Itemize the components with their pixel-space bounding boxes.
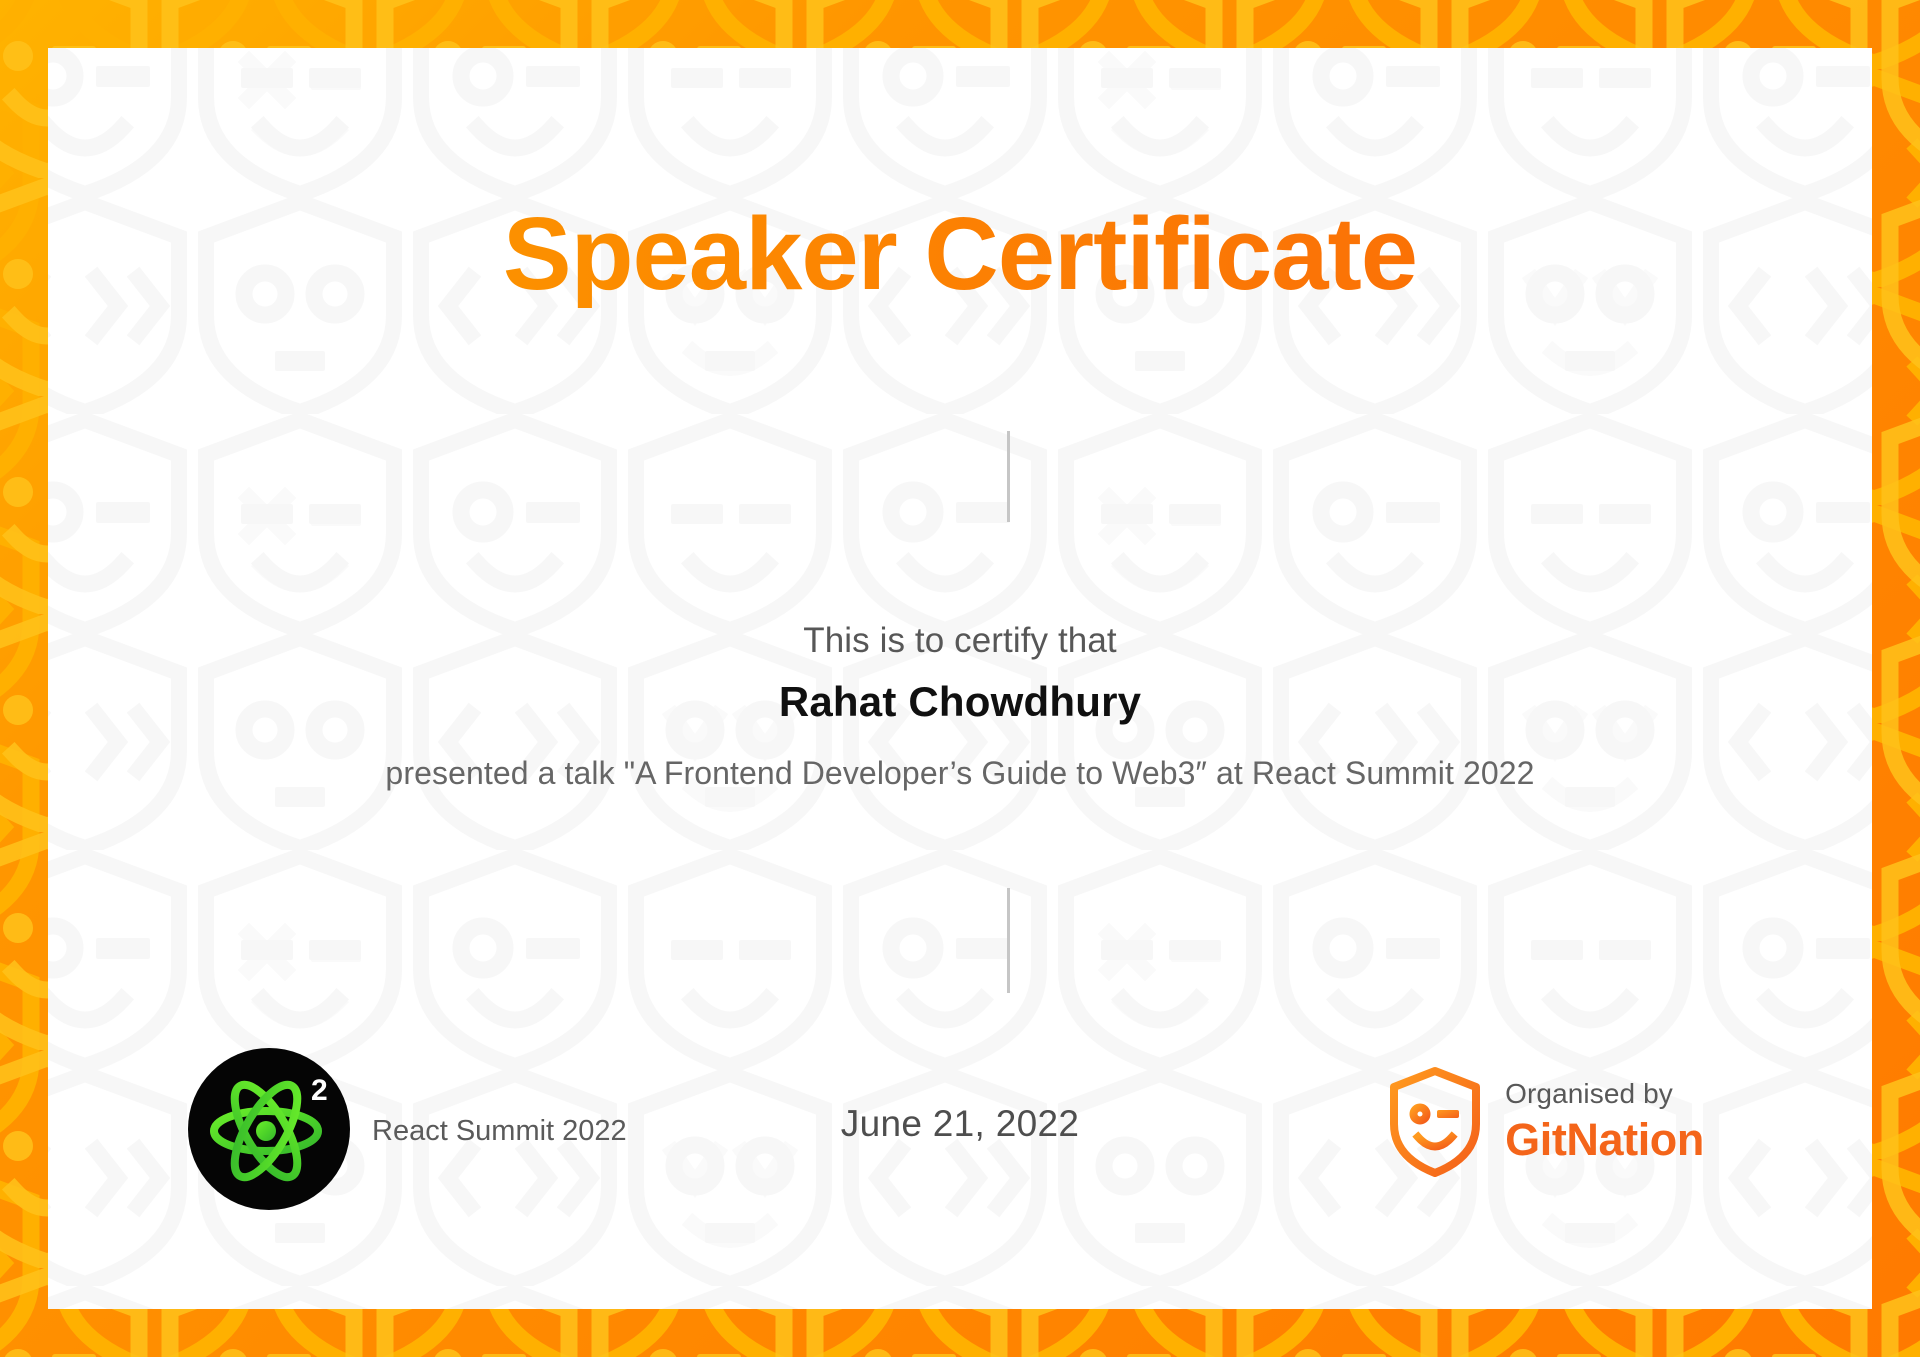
organiser-block: Organised by GitNation [1387,1066,1704,1178]
talk-description: presented a talk "A Frontend Developer’s… [48,755,1872,792]
organised-by-label: Organised by [1505,1078,1704,1110]
organiser-texts: Organised by GitNation [1505,1078,1704,1166]
certificate-footer: 2 React Summit 2022 June 21, 2022 [48,1048,1872,1228]
certificate-card: Speaker Certificate This is to certify t… [48,48,1872,1309]
divider-bottom [1007,888,1010,993]
speaker-certificate: Speaker Certificate This is to certify t… [0,0,1920,1357]
divider-top [1007,431,1010,522]
page-title: Speaker Certificate [48,200,1872,308]
gitnation-shield-face-icon [1387,1066,1483,1178]
recipient-name: Rahat Chowdhury [48,678,1872,726]
certify-line: This is to certify that [48,621,1872,661]
organiser-name: GitNation [1505,1114,1704,1166]
